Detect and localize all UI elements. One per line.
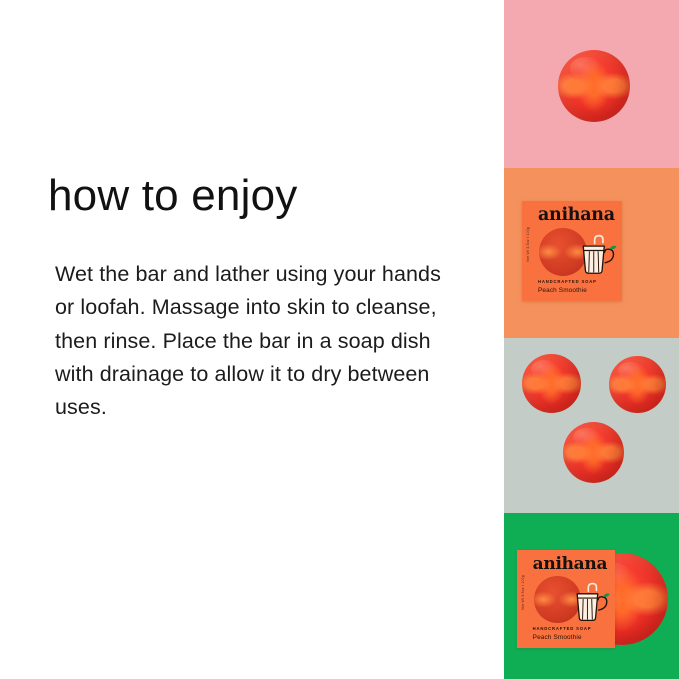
package-brand-name: anihana	[533, 556, 613, 573]
gallery-thumbnail-single-soap[interactable]	[504, 0, 679, 168]
instructions-paragraph: Wet the bar and lather using your hands …	[55, 258, 465, 425]
product-package-label: anihana Net Wt 3.5oz / 100g	[517, 550, 615, 648]
soap-bar-icon	[563, 422, 624, 483]
package-net-weight: Net Wt 3.5oz / 100g	[521, 575, 525, 610]
soap-bar-icon	[522, 354, 581, 413]
smoothie-cup-icon	[572, 579, 613, 624]
how-to-enjoy-section: how to enjoy Wet the bar and lather usin…	[0, 0, 504, 679]
gallery-thumbnail-three-soaps[interactable]	[504, 338, 679, 513]
product-detail-page: how to enjoy Wet the bar and lather usin…	[0, 0, 679, 679]
package-variant-name: Peach Smoothie	[538, 287, 587, 294]
product-image-gallery: anihana Net Wt 3.5oz / 100g	[504, 0, 679, 679]
package-descriptor: HANDCRAFTED SOAP	[538, 279, 597, 284]
soap-bar-icon	[558, 50, 630, 122]
package-descriptor: HANDCRAFTED SOAP	[533, 626, 592, 631]
product-package-label: anihana Net Wt 3.5oz / 100g	[522, 201, 622, 301]
page-title: how to enjoy	[48, 172, 297, 220]
soap-bar-icon	[609, 356, 666, 413]
package-brand-name: anihana	[538, 207, 620, 225]
package-variant-name: Peach Smoothie	[533, 634, 582, 641]
smoothie-cup-icon	[578, 231, 620, 277]
gallery-thumbnail-package-with-soap[interactable]: anihana Net Wt 3.5oz / 100g	[504, 513, 679, 679]
gallery-thumbnail-package[interactable]: anihana Net Wt 3.5oz / 100g	[504, 168, 679, 338]
package-net-weight: Net Wt 3.5oz / 100g	[526, 227, 530, 262]
